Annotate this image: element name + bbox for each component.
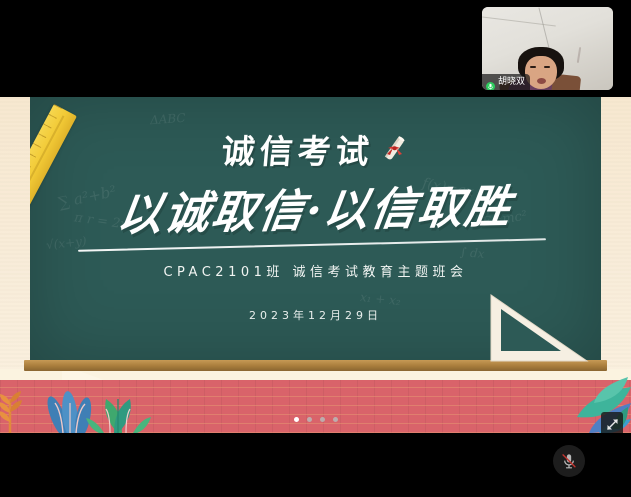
slide-title-row: 诚信考试	[30, 125, 601, 173]
participant-name: 胡晓双	[498, 74, 525, 90]
bottom-toolbar	[0, 433, 631, 497]
slide-calligraphy-title: 以诚取信·以信取胜	[30, 168, 601, 245]
wall-corner-line	[538, 8, 550, 53]
meeting-screen-share-view: ∑ a²+b² π r = 2x √(x+y) f(x)=ax E=mc² ∫ …	[0, 0, 631, 497]
shared-slide-content[interactable]: ∑ a²+b² π r = 2x √(x+y) f(x)=ax E=mc² ∫ …	[0, 97, 631, 433]
slide-brick-wall	[0, 380, 631, 433]
slide-main-title: 诚信考试	[219, 125, 375, 173]
pagination-dot[interactable]	[294, 417, 299, 422]
wall-smudge	[577, 47, 581, 63]
ceiling-line	[482, 16, 556, 26]
slide-subtitle: CPAC2101班 诚信考试教育主题班会	[30, 261, 601, 280]
pagination-dot[interactable]	[333, 417, 338, 422]
participant-video-tile[interactable]: 胡晓双	[482, 7, 613, 90]
diploma-scroll-icon	[380, 134, 410, 164]
microphone-on-icon	[486, 78, 495, 87]
slide-pagination-dots[interactable]	[0, 417, 631, 422]
microphone-muted-icon[interactable]	[553, 445, 585, 477]
pagination-dot[interactable]	[307, 417, 312, 422]
pagination-dot[interactable]	[320, 417, 325, 422]
triangle-ruler-icon	[487, 293, 591, 365]
participant-name-badge: 胡晓双	[482, 74, 530, 90]
